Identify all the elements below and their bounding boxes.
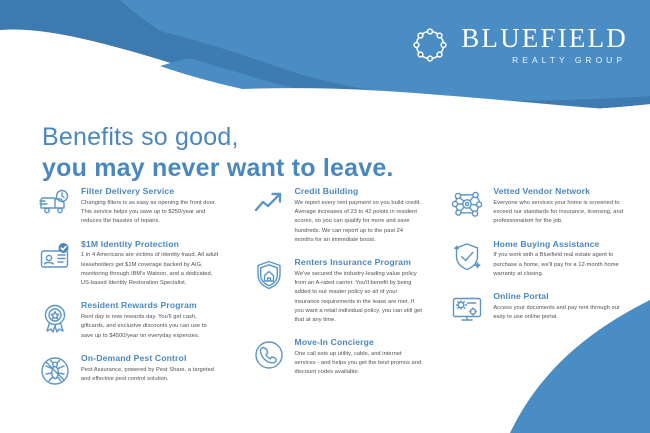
benefit-text: Resident Rewards ProgramRent day is now …	[81, 300, 220, 341]
benefit-title: Home Buying Assistance	[493, 239, 626, 249]
benefit-description: We've secured the industry-leading value…	[295, 270, 423, 325]
benefit-item: Renters Insurance ProgramWe've secured t…	[252, 257, 423, 325]
monitor-portal-icon	[450, 292, 484, 326]
benefit-item: On-Demand Pest ControlPest Assurance, po…	[38, 353, 220, 388]
brand-logo: BLUEFIELD REALTY GROUP	[410, 25, 628, 65]
benefit-text: $1M Identity Protection1 in 4 Americans …	[81, 239, 220, 289]
benefit-title: Online Portal	[493, 291, 626, 301]
benefit-description: Pest Assurance, powered by Pest Share, a…	[81, 366, 220, 384]
page-title: Benefits so good, you may never want to …	[42, 122, 394, 183]
id-card-check-icon	[38, 240, 72, 274]
brand-tagline: REALTY GROUP	[461, 56, 628, 65]
benefit-item: Credit BuildingWe report every rent paym…	[252, 186, 423, 245]
benefit-title: On-Demand Pest Control	[81, 353, 220, 363]
benefit-title: Filter Delivery Service	[81, 186, 220, 196]
headline-line-2: you may never want to leave.	[42, 153, 394, 184]
benefit-description: Access your documents and pay rent throu…	[493, 304, 626, 322]
benefit-title: Credit Building	[295, 186, 423, 196]
benefit-text: Move-In ConciergeOne call sets up utilit…	[295, 337, 423, 378]
benefit-description: We report every rent payment so you buil…	[295, 199, 423, 245]
headline-line-1: Benefits so good,	[42, 122, 394, 153]
benefit-description: One call sets up utility, cable, and int…	[295, 350, 423, 378]
benefit-item: Resident Rewards ProgramRent day is now …	[38, 300, 220, 341]
benefits-grid: Filter Delivery ServiceChanging filters …	[38, 186, 626, 400]
benefit-text: Online PortalAccess your documents and p…	[493, 291, 626, 322]
benefit-description: Changing filters is as easy as opening t…	[81, 199, 220, 227]
delivery-truck-icon	[38, 187, 72, 221]
benefits-column-3: Vetted Vendor NetworkEveryone who servic…	[450, 186, 626, 338]
benefit-title: Renters Insurance Program	[295, 257, 423, 267]
rope-circle-icon	[410, 25, 450, 65]
benefit-text: Renters Insurance ProgramWe've secured t…	[295, 257, 423, 325]
benefit-title: $1M Identity Protection	[81, 239, 220, 249]
benefit-item: Move-In ConciergeOne call sets up utilit…	[252, 337, 423, 378]
benefit-text: Filter Delivery ServiceChanging filters …	[81, 186, 220, 227]
pest-control-icon	[38, 354, 72, 388]
shield-check-icon	[450, 240, 484, 274]
benefit-description: Rent day is now rewards day. You'll get …	[81, 313, 220, 341]
flyer-page: BLUEFIELD REALTY GROUP Benefits so good,…	[0, 0, 650, 433]
phone-circle-icon	[252, 338, 286, 372]
benefit-text: Home Buying AssistanceIf you work with a…	[493, 239, 626, 280]
brand-name: BLUEFIELD	[461, 25, 628, 52]
benefit-item: Filter Delivery ServiceChanging filters …	[38, 186, 220, 227]
benefit-description: 1 in 4 Americans are victims of identity…	[81, 251, 220, 288]
benefit-title: Move-In Concierge	[295, 337, 423, 347]
benefit-text: On-Demand Pest ControlPest Assurance, po…	[81, 353, 220, 384]
benefit-item: Vetted Vendor NetworkEveryone who servic…	[450, 186, 626, 227]
benefit-description: If you work with a Bluefield real estate…	[493, 251, 626, 279]
award-badge-icon	[38, 301, 72, 335]
network-nodes-icon	[450, 187, 484, 221]
benefit-text: Credit BuildingWe report every rent paym…	[295, 186, 423, 245]
benefit-item: $1M Identity Protection1 in 4 Americans …	[38, 239, 220, 289]
benefit-title: Resident Rewards Program	[81, 300, 220, 310]
benefits-column-1: Filter Delivery ServiceChanging filters …	[38, 186, 220, 400]
benefits-column-2: Credit BuildingWe report every rent paym…	[252, 186, 423, 390]
benefit-item: Home Buying AssistanceIf you work with a…	[450, 239, 626, 280]
benefit-title: Vetted Vendor Network	[493, 186, 626, 196]
benefit-description: Everyone who services your home is scree…	[493, 199, 626, 227]
benefit-text: Vetted Vendor NetworkEveryone who servic…	[493, 186, 626, 227]
shield-house-icon	[252, 258, 286, 292]
benefit-item: Online PortalAccess your documents and p…	[450, 291, 626, 326]
trend-up-arrow-icon	[252, 187, 286, 221]
